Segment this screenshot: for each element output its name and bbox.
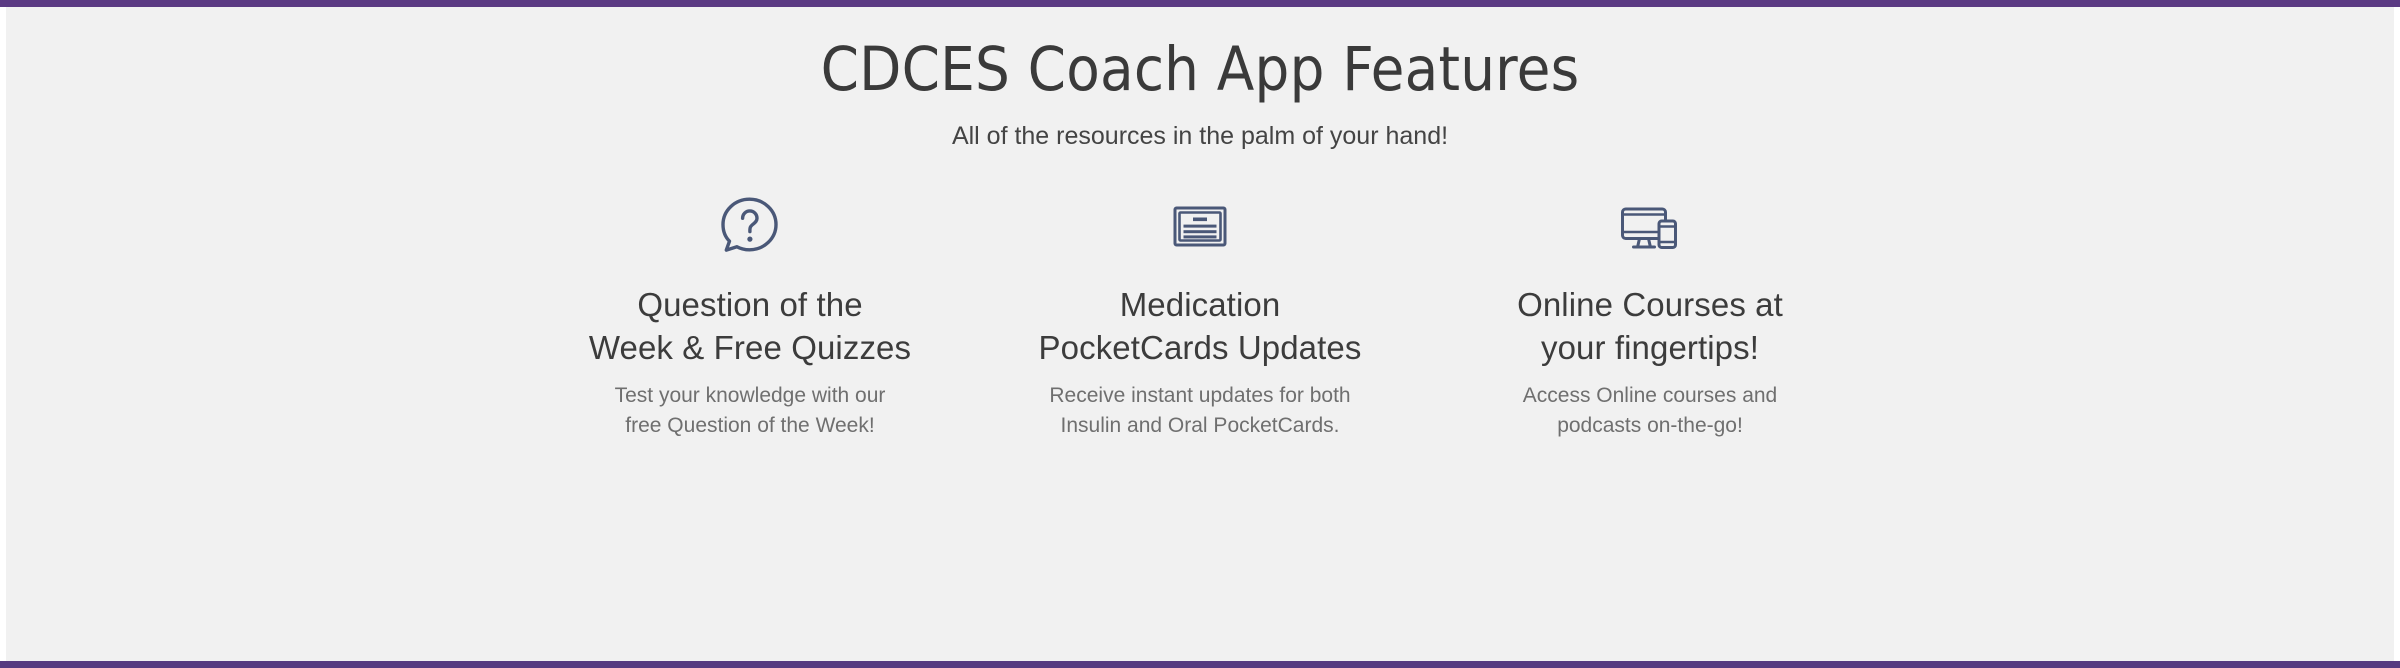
page-root: CDCES Coach App Features All of the reso… — [0, 0, 2400, 668]
bottom-accent-rule — [0, 661, 2400, 668]
feature-title-line-2: Week & Free Quizzes — [533, 327, 967, 369]
feature-card-online-courses: Online Courses at your fingertips! Acces… — [1425, 190, 1875, 441]
feature-title-line-2: PocketCards Updates — [983, 327, 1417, 369]
feature-title-line-2: your fingertips! — [1433, 327, 1867, 369]
feature-desc-line-2: podcasts on-the-go! — [1433, 411, 1867, 441]
feature-title: Medication PocketCards Updates — [983, 284, 1417, 368]
feature-title: Question of the Week & Free Quizzes — [533, 284, 967, 368]
feature-title-line-1: Online Courses at — [1433, 284, 1867, 326]
feature-card-question-of-the-week: Question of the Week & Free Quizzes Test… — [525, 190, 975, 441]
desktop-and-phone-icon — [1433, 190, 1867, 262]
feature-title-line-1: Question of the — [533, 284, 967, 326]
feature-card-medication-pocketcards: Medication PocketCards Updates Receive i… — [975, 190, 1425, 441]
features-section: CDCES Coach App Features All of the reso… — [6, 7, 2394, 661]
feature-desc-line-2: free Question of the Week! — [533, 411, 967, 441]
feature-description: Access Online courses and podcasts on-th… — [1433, 381, 1867, 442]
feature-description: Receive instant updates for both Insulin… — [983, 381, 1417, 442]
feature-title-line-1: Medication — [983, 284, 1417, 326]
page-subtitle: All of the resources in the palm of your… — [6, 120, 2394, 153]
feature-desc-line-2: Insulin and Oral PocketCards. — [983, 411, 1417, 441]
feature-desc-line-1: Receive instant updates for both — [983, 381, 1417, 411]
feature-desc-line-1: Access Online courses and — [1433, 381, 1867, 411]
section-header: CDCES Coach App Features All of the reso… — [6, 7, 2394, 152]
page-title: CDCES Coach App Features — [6, 34, 2394, 106]
feature-desc-line-1: Test your knowledge with our — [533, 381, 967, 411]
feature-title: Online Courses at your fingertips! — [1433, 284, 1867, 368]
feature-description: Test your knowledge with our free Questi… — [533, 381, 967, 442]
top-accent-rule — [0, 0, 2400, 7]
features-list: Question of the Week & Free Quizzes Test… — [6, 190, 2394, 441]
question-speech-bubble-icon — [533, 190, 967, 262]
pocketcard-document-icon — [983, 190, 1417, 262]
